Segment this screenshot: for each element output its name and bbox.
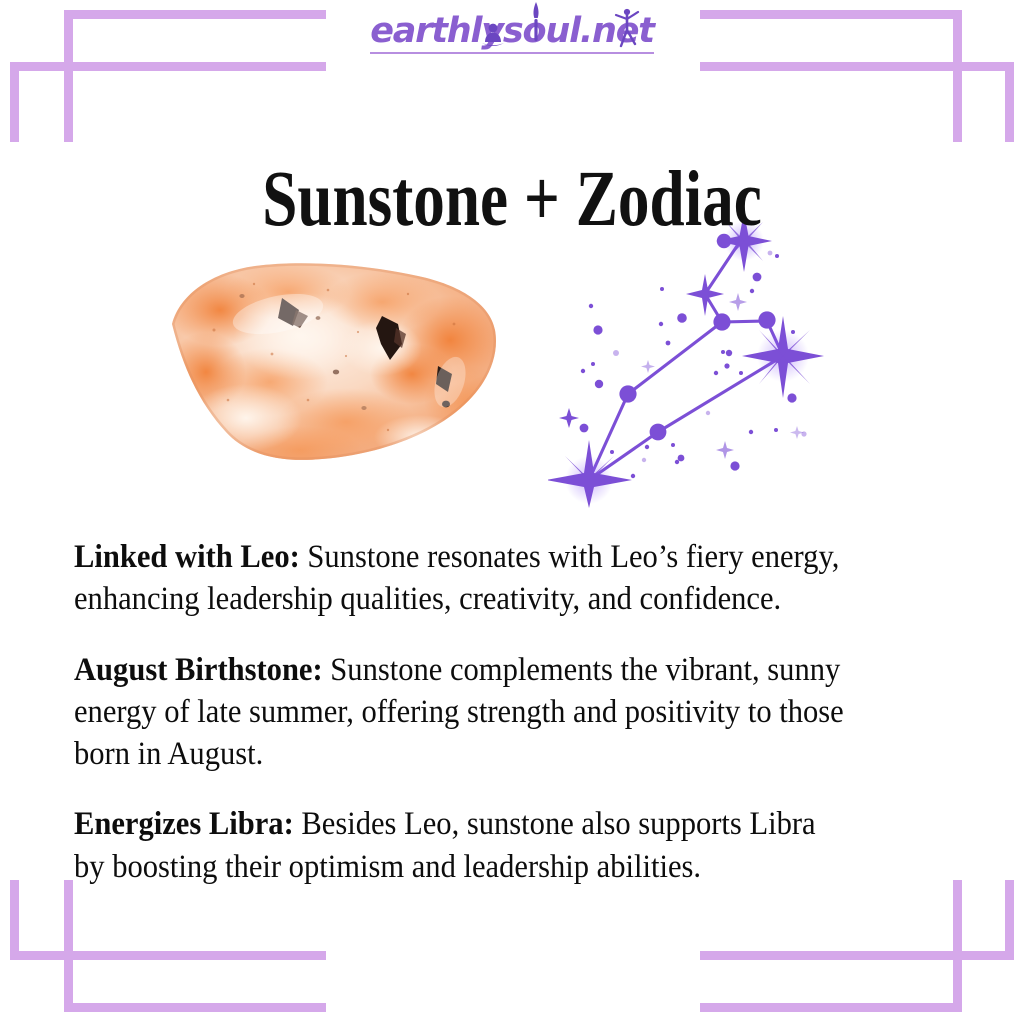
paragraph-lead-2: August Birthstone:	[74, 652, 323, 688]
poster-canvas: earthlysoul.net S	[0, 0, 1024, 1024]
sparkle-star-elbow	[686, 274, 724, 316]
paragraph-energizes-libra: Energizes Libra: Besides Leo, sunstone a…	[74, 803, 845, 888]
frame-b-top-right	[700, 62, 1014, 71]
frame-b-bottom-right	[700, 951, 1014, 960]
body-copy: Linked with Leo: Sunstone resonates with…	[74, 536, 894, 888]
sparkle-star-bottom-left	[548, 440, 632, 508]
frame-a-bottom-left	[64, 1003, 326, 1012]
frame-a-left-bottom	[64, 880, 73, 1012]
site-logo-text: earthlysoul.net	[370, 14, 654, 49]
site-logo-underline	[370, 52, 654, 54]
frame-b-top-left	[10, 62, 326, 71]
site-logo-inner: earthlysoul.net	[364, 14, 660, 49]
paragraph-august-birthstone: August Birthstone: Sunstone complements …	[74, 649, 845, 776]
frame-a-bottom-right	[700, 1003, 962, 1012]
frame-b-left-bottom	[10, 880, 19, 960]
paragraph-linked-with-leo: Linked with Leo: Sunstone resonates with…	[74, 536, 845, 621]
site-logo[interactable]: earthlysoul.net	[0, 14, 1024, 49]
sparkle-star-right	[742, 316, 824, 398]
frame-b-bottom-left	[10, 951, 326, 960]
page-title: Sunstone + Zodiac	[102, 157, 921, 242]
frame-b-right-top	[1005, 62, 1014, 142]
leo-zodiac-constellation	[548, 208, 844, 508]
frame-b-right-bottom	[1005, 880, 1014, 960]
paragraph-lead-3: Energizes Libra:	[74, 806, 294, 842]
frame-a-right-bottom	[953, 880, 962, 1012]
paragraph-lead-1: Linked with Leo:	[74, 539, 300, 575]
frame-b-left-top	[10, 62, 19, 142]
crescent-moon-icon	[615, 282, 630, 312]
sunstone-tumbled-gem	[150, 232, 510, 472]
